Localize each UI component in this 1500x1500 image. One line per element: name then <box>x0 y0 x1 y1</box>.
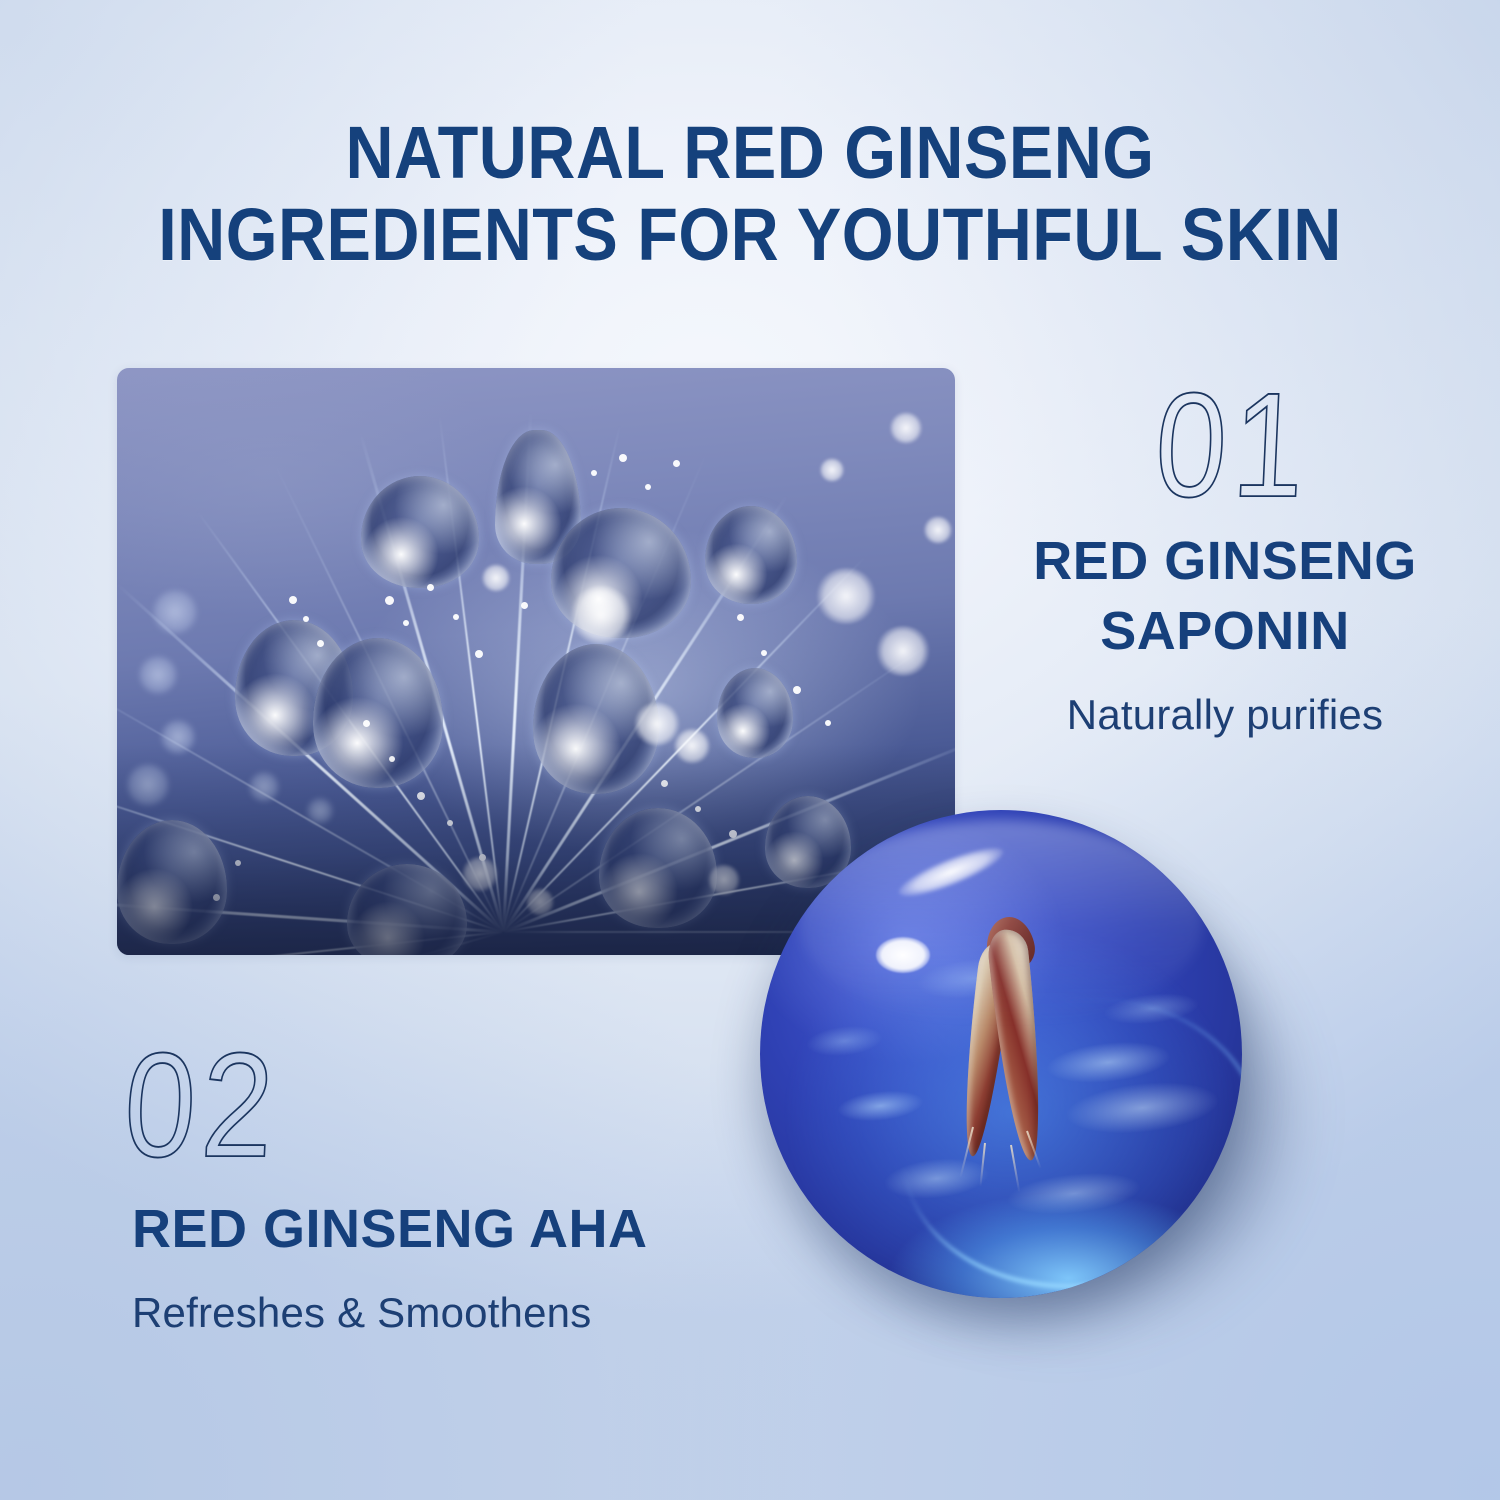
sphere-highlight-dot <box>876 937 930 973</box>
page-title: NATURAL RED GINSENG INGREDIENTS FOR YOUT… <box>75 112 1425 278</box>
ingredient-number-01: 01 <box>1152 372 1313 520</box>
ingredient-benefit-01: Naturally purifies <box>975 688 1475 743</box>
ginseng-sphere <box>752 800 1252 1305</box>
sphere-body <box>760 810 1242 1298</box>
water-droplet <box>705 506 797 604</box>
ingredient-benefit-02: Refreshes & Smoothens <box>132 1286 808 1341</box>
ingredient-block-02: 02 RED GINSENG AHA Refreshes & Smoothens <box>128 1032 808 1341</box>
ingredient-number-02: 02 <box>121 1032 282 1180</box>
product-ingredient-poster: NATURAL RED GINSENG INGREDIENTS FOR YOUT… <box>0 0 1500 1500</box>
ingredient-name-01: RED GINSENG SAPONIN <box>975 526 1475 666</box>
ingredient-block-01: 01 RED GINSENG SAPONIN Naturally purifie… <box>975 372 1475 743</box>
ingredient-name-02: RED GINSENG AHA <box>132 1194 808 1264</box>
